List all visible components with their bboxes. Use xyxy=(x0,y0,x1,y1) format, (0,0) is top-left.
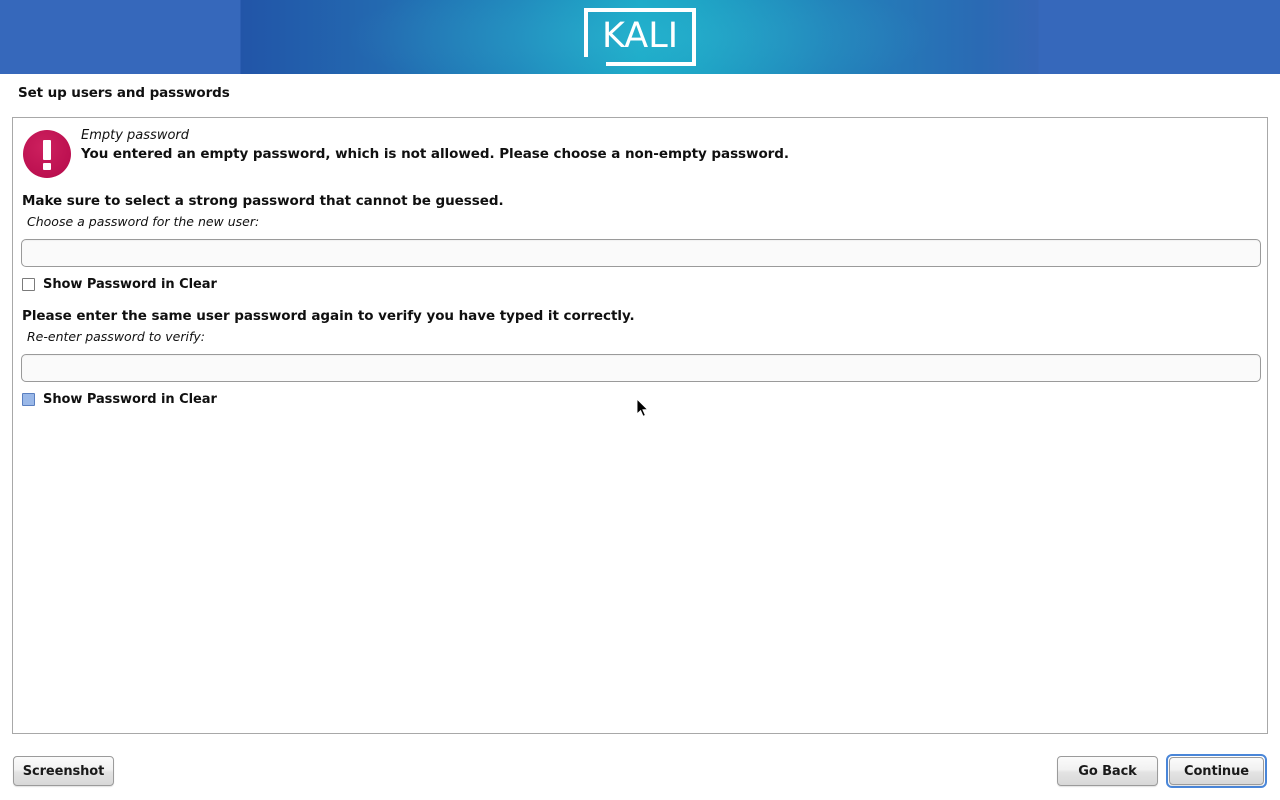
installer-content-panel: Empty password You entered an empty pass… xyxy=(12,117,1268,734)
continue-button-focus-ring[interactable]: Continue xyxy=(1166,754,1267,788)
password-field-label: Choose a password for the new user: xyxy=(27,214,259,229)
password-input[interactable] xyxy=(21,239,1261,267)
error-banner: Empty password You entered an empty pass… xyxy=(13,118,1267,190)
exclamation-stem xyxy=(43,140,51,160)
verify-password-field-label: Re-enter password to verify: xyxy=(27,329,205,344)
password-section-heading: Make sure to select a strong password th… xyxy=(22,193,504,209)
kali-installer-banner: KALI xyxy=(0,0,1280,74)
error-title: Empty password xyxy=(81,128,189,143)
continue-button[interactable]: Continue xyxy=(1169,757,1264,785)
kali-logo: KALI xyxy=(584,8,696,66)
error-exclamation-icon xyxy=(23,130,71,178)
verify-password-input[interactable] xyxy=(21,354,1261,382)
show-password-checkbox-row-2[interactable]: Show Password in Clear xyxy=(22,392,217,407)
logo-text: KALI xyxy=(584,8,696,66)
go-back-button[interactable]: Go Back xyxy=(1057,756,1158,786)
verify-section-heading: Please enter the same user password agai… xyxy=(22,308,635,324)
show-password-checkbox-label-1: Show Password in Clear xyxy=(43,277,217,292)
show-password-checkbox-label-2: Show Password in Clear xyxy=(43,392,217,407)
screenshot-button[interactable]: Screenshot xyxy=(13,756,114,786)
show-password-checkbox-row-1[interactable]: Show Password in Clear xyxy=(22,277,217,292)
exclamation-dot xyxy=(43,163,51,170)
page-title: Set up users and passwords xyxy=(18,85,230,101)
show-password-checkbox-1[interactable] xyxy=(22,278,35,291)
error-message: You entered an empty password, which is … xyxy=(81,146,789,162)
show-password-checkbox-2[interactable] xyxy=(22,393,35,406)
